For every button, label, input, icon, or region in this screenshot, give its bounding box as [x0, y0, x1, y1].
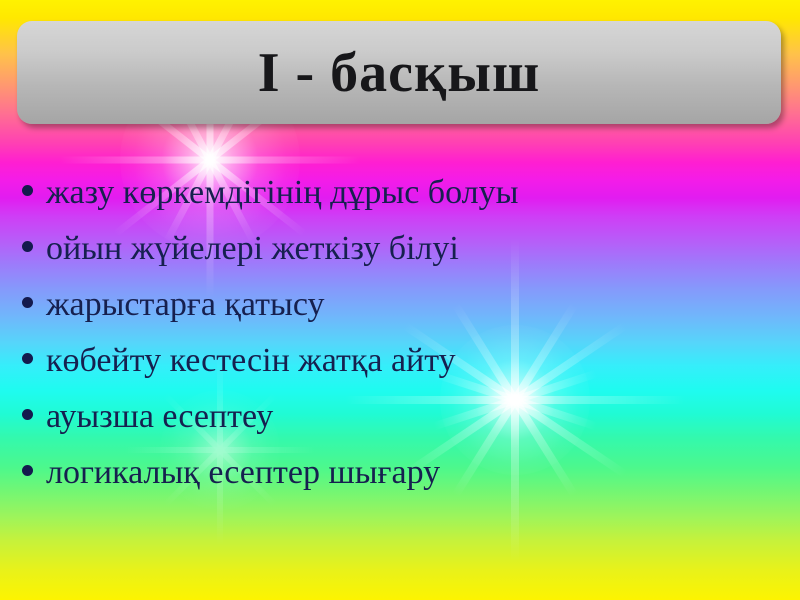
bullet-dot-icon — [22, 185, 33, 196]
list-item-label: логикалық есептер шығару — [46, 456, 440, 490]
list-item: ауызша есептеу — [22, 400, 778, 456]
list-item: жазу көркемдігінің дұрыс болуы — [22, 176, 778, 232]
bullet-dot-icon — [22, 353, 33, 364]
list-item: көбейту кестесін жатқа айту — [22, 344, 778, 400]
list-item-label: ауызша есептеу — [46, 400, 273, 434]
page-title: I - басқыш — [258, 45, 541, 101]
slide-title-box: I - басқыш — [17, 21, 781, 124]
list-item-label: жазу көркемдігінің дұрыс болуы — [46, 176, 518, 210]
list-item: жарыстарға қатысу — [22, 288, 778, 344]
list-item: логикалық есептер шығару — [22, 456, 778, 512]
list-item-label: ойын жүйелері жеткізу білуі — [46, 232, 459, 266]
flare-ray — [60, 157, 360, 164]
list-item-label: жарыстарға қатысу — [46, 288, 325, 322]
bullet-dot-icon — [22, 409, 33, 420]
bullet-list: жазу көркемдігінің дұрыс болуы ойын жүйе… — [22, 176, 778, 512]
presentation-slide: I - басқыш жазу көркемдігінің дұрыс болу… — [0, 0, 800, 600]
bullet-dot-icon — [22, 241, 33, 252]
bullet-dot-icon — [22, 297, 33, 308]
list-item-label: көбейту кестесін жатқа айту — [46, 344, 456, 378]
list-item: ойын жүйелері жеткізу білуі — [22, 232, 778, 288]
bullet-dot-icon — [22, 465, 33, 476]
